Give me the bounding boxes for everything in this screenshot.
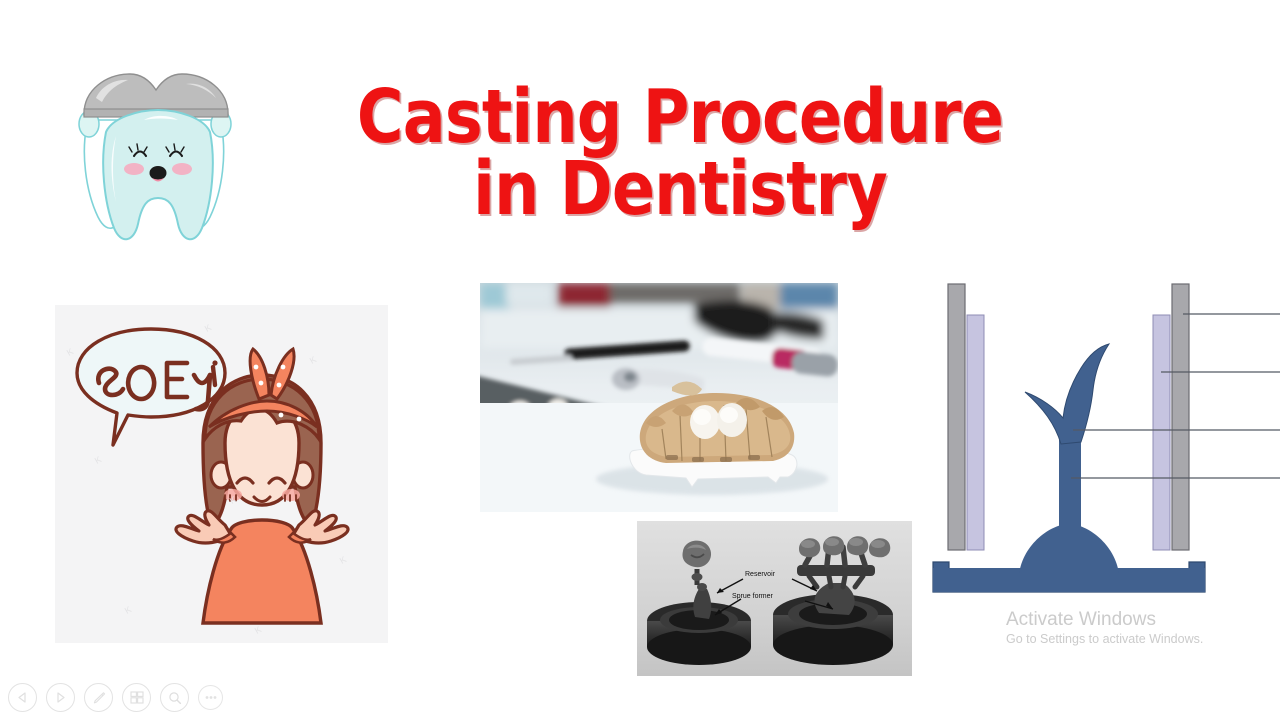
previous-slide-button[interactable]: Previous	[8, 683, 37, 712]
all-slides-button[interactable]: See all slides	[122, 683, 151, 712]
happy-tooth-icon	[58, 52, 258, 267]
triangle-left-icon	[17, 692, 28, 703]
slideshow-canvas: Casting Procedure in Dentistry K K K K K…	[0, 0, 1280, 720]
magnifier-icon	[168, 691, 182, 705]
grid-icon	[130, 691, 144, 704]
windows-activation-watermark: Activate Windows Go to Settings to activ…	[1006, 608, 1266, 648]
casting-ring-diagram	[915, 272, 1280, 610]
sprue-label-reservoir: Reservoir	[745, 571, 775, 578]
triangle-right-icon	[55, 692, 66, 703]
activate-windows-subtitle: Go to Settings to activate Windows.	[1006, 631, 1266, 648]
more-options-button[interactable]: More slide show options	[198, 685, 223, 710]
sprue-former-photo: Reservoir Sprue former	[637, 521, 912, 676]
next-slide-button[interactable]: Next	[46, 683, 75, 712]
pen-icon	[92, 691, 106, 705]
so-easy-girl-image: K K K K K K K K	[55, 305, 388, 643]
sprue-label-sprue-former: Sprue former	[732, 593, 773, 600]
presenter-toolbar[interactable]: Previous Next Pen See all slides	[8, 683, 223, 712]
activate-windows-title: Activate Windows	[1006, 608, 1266, 631]
page-title: Casting Procedure in Dentistry	[300, 82, 1060, 226]
zoom-button[interactable]: Zoom into slide	[160, 683, 189, 712]
title-line-2: in Dentistry	[353, 154, 1007, 226]
pen-tool-button[interactable]: Pen	[84, 683, 113, 712]
dental-cast-photo	[480, 283, 838, 512]
title-line-1: Casting Procedure	[353, 82, 1007, 154]
ellipsis-icon	[204, 695, 218, 700]
